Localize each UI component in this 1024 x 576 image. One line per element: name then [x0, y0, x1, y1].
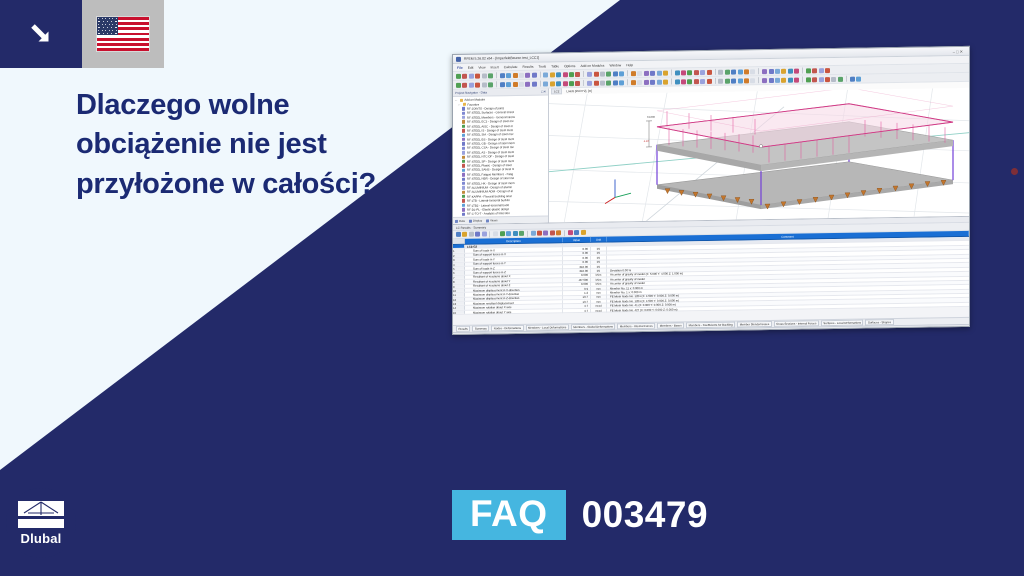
- toolbar-button[interactable]: [482, 73, 487, 78]
- folder-icon: [460, 98, 463, 101]
- toolbar-button[interactable]: [600, 80, 605, 85]
- toolbar-button[interactable]: [532, 72, 537, 77]
- toolbar-separator: [583, 80, 584, 86]
- toolbar-separator: [671, 70, 672, 76]
- module-icon: [462, 164, 465, 167]
- toolbar-button[interactable]: [675, 70, 680, 75]
- toolbar-button[interactable]: [707, 78, 712, 83]
- toolbar-button[interactable]: [750, 69, 755, 74]
- module-icon: [462, 133, 465, 136]
- toolbar-separator: [564, 230, 565, 236]
- cell-value: 4.7: [563, 308, 591, 312]
- toolbar-button[interactable]: [550, 81, 555, 86]
- toolbar-button[interactable]: [681, 70, 686, 75]
- cell-unit: mrad: [591, 308, 607, 312]
- toolbar-button[interactable]: [644, 79, 649, 84]
- view-tabs[interactable]: LC2 Loads [kN/m^2], [m]: [549, 88, 594, 95]
- toolbar-button[interactable]: [556, 72, 561, 77]
- toolbar-button[interactable]: [519, 81, 524, 86]
- row-number: 15: [453, 311, 465, 315]
- toolbar-separator: [846, 76, 847, 82]
- toolbar-button[interactable]: [500, 82, 505, 87]
- faq-strip: FAQ 003479: [452, 490, 708, 540]
- results-toolbar-button[interactable]: [574, 230, 579, 235]
- row-number: 5: [453, 267, 465, 271]
- module-icon: [462, 129, 465, 132]
- toolbar-button[interactable]: [631, 71, 636, 76]
- results-toolbar-button[interactable]: [550, 230, 555, 235]
- toolbar-button[interactable]: [569, 72, 574, 77]
- results-sheet-tab[interactable]: Members - Bases: [657, 322, 684, 328]
- results-toolbar-button[interactable]: [482, 231, 487, 236]
- toolbar-button[interactable]: [825, 77, 830, 82]
- toolbar-button[interactable]: [519, 72, 524, 77]
- toolbar-button[interactable]: [594, 80, 599, 85]
- navigator-title: Project Navigator - Data: [455, 90, 487, 95]
- row-number: 4: [453, 262, 465, 266]
- results-toolbar-button[interactable]: [469, 232, 474, 237]
- rfem-app-icon: [456, 56, 461, 61]
- toolbar-button[interactable]: [543, 72, 548, 77]
- toolbar-button[interactable]: [663, 79, 668, 84]
- results-sheet-tab[interactable]: Surfaces - Local Deformations: [821, 320, 864, 327]
- toolbar-separator: [496, 72, 497, 78]
- navigator-tab-views[interactable]: Views: [486, 218, 497, 222]
- module-icon: [462, 120, 465, 123]
- view-caption: Loads [kN/m^2], [m]: [566, 89, 592, 93]
- faq-number: 003479: [582, 494, 708, 536]
- module-icon: [462, 208, 465, 211]
- toolbar-button[interactable]: [563, 72, 568, 77]
- folder-icon: [463, 103, 466, 106]
- results-sheet-tab[interactable]: Member Slendernesses: [737, 321, 772, 328]
- project-navigator-panel: Project Navigator - Data ◻✕ ─ Add-on Mod…: [453, 88, 549, 224]
- menu-item-6[interactable]: Tools: [538, 64, 546, 68]
- module-icon: [462, 199, 465, 202]
- menu-item-11[interactable]: Help: [626, 63, 633, 67]
- toolbar-button[interactable]: [718, 78, 723, 83]
- toolbar-button[interactable]: [469, 73, 474, 78]
- toolbar-button[interactable]: [619, 71, 624, 76]
- results-title-text: LC Results - Summary: [456, 225, 486, 229]
- toolbar-button[interactable]: [850, 76, 855, 81]
- toolbar-button[interactable]: [462, 82, 467, 87]
- bridge-truss-icon: [18, 501, 64, 528]
- toolbar-button[interactable]: [788, 77, 793, 82]
- toolbar-button[interactable]: [650, 70, 655, 75]
- toolbar-button[interactable]: [587, 80, 592, 85]
- module-icon: [462, 151, 465, 154]
- toolbar-button[interactable]: [806, 68, 811, 73]
- window-buttons[interactable]: – □ ✕: [953, 48, 966, 53]
- module-icon: [462, 125, 465, 128]
- tree-item-container[interactable]: RF-JOINTS - Design of jointsRF-STEEL Sur…: [455, 105, 548, 217]
- menu-item-9[interactable]: Add-on Modules: [580, 63, 604, 67]
- results-toolbar-button[interactable]: [493, 231, 498, 236]
- menu-item-1[interactable]: Edit: [468, 65, 474, 69]
- toolbar-separator: [583, 71, 584, 77]
- toolbar-button[interactable]: [775, 68, 780, 73]
- toolbar-button[interactable]: [788, 68, 793, 73]
- menu-item-5[interactable]: Results: [522, 64, 533, 68]
- toolbar-button[interactable]: [762, 69, 767, 74]
- results-toolbar-button[interactable]: [500, 231, 505, 236]
- toolbar-button[interactable]: [819, 68, 824, 73]
- toolbar-button[interactable]: [550, 72, 555, 77]
- toolbar-button[interactable]: [856, 76, 861, 81]
- toolbar-button[interactable]: [619, 80, 624, 85]
- toolbar-button[interactable]: [750, 78, 755, 83]
- navigator-tab-data[interactable]: Data: [455, 219, 465, 223]
- toolbar-button[interactable]: [744, 69, 749, 74]
- cell-description: Maximum rotation about Y axis: [465, 309, 563, 315]
- toolbar-separator: [802, 67, 803, 73]
- structural-model-graphic: 0.1000 -1.10: [549, 88, 969, 223]
- app-title: RFEM 5.26.02 x64 - [ImperfektBeuren test…: [464, 56, 539, 61]
- toolbar-button[interactable]: [556, 81, 561, 86]
- module-icon: [462, 204, 465, 207]
- menu-item-2[interactable]: View: [478, 65, 485, 69]
- results-toolbar-button[interactable]: [543, 230, 548, 235]
- toolbar-button[interactable]: [681, 79, 686, 84]
- toolbar-button[interactable]: [769, 77, 774, 82]
- toolbar-separator: [496, 81, 497, 87]
- toolbar-button[interactable]: [525, 81, 530, 86]
- toolbar-separator: [540, 72, 541, 78]
- toolbar-button[interactable]: [718, 69, 723, 74]
- toolbar-button[interactable]: [775, 77, 780, 82]
- toolbar-button[interactable]: [525, 72, 530, 77]
- toolbar-button[interactable]: [587, 71, 592, 76]
- results-sheet-tab[interactable]: Members - Coefficients for Buckling: [686, 322, 735, 329]
- column-header-value[interactable]: Value: [563, 237, 591, 242]
- row-number: 7: [453, 276, 465, 280]
- toolbar-button[interactable]: [606, 80, 611, 85]
- toolbar-separator: [758, 77, 759, 83]
- page-title: Dlaczego wolne obciążenie nie jest przył…: [76, 86, 416, 204]
- toolbar-button[interactable]: [794, 68, 799, 73]
- toolbar-button[interactable]: [781, 77, 786, 82]
- toolbar-button[interactable]: [794, 77, 799, 82]
- menu-item-3[interactable]: Insert: [490, 65, 498, 69]
- toolbar-button[interactable]: [575, 80, 580, 85]
- module-icon: [462, 107, 465, 110]
- toolbar-button[interactable]: [482, 82, 487, 87]
- load-value-label: 0.1000: [647, 115, 655, 119]
- results-grid-body[interactable]: 1Sum of loads in X0.00kN2Sum of support …: [453, 241, 969, 315]
- toolbar-button[interactable]: [731, 69, 736, 74]
- results-toolbar-button[interactable]: [537, 231, 542, 236]
- results-toolbar-button[interactable]: [506, 231, 511, 236]
- toolbar-button[interactable]: [700, 70, 705, 75]
- results-toolbar-button[interactable]: [475, 232, 480, 237]
- toolbar-separator: [671, 79, 672, 85]
- us-flag-icon: [97, 17, 149, 51]
- toolbar-button[interactable]: [694, 79, 699, 84]
- toolbar-button[interactable]: [707, 69, 712, 74]
- row-number: 13: [453, 302, 465, 306]
- menu-item-8[interactable]: Options: [564, 64, 575, 68]
- application-window-screenshot: RFEM 5.26.02 x64 - [ImperfektBeuren test…: [452, 46, 970, 335]
- toolbar-button[interactable]: [687, 79, 692, 84]
- toolbar-button[interactable]: [644, 70, 649, 75]
- toolbar-button[interactable]: [725, 78, 730, 83]
- toolbar-separator: [715, 78, 716, 84]
- results-sheet-tab[interactable]: Cross-Sections - Internal Forces: [774, 320, 819, 327]
- toolbar-button[interactable]: [613, 71, 618, 76]
- toolbar-button[interactable]: [606, 71, 611, 76]
- results-sheet-tab[interactable]: Members - Internal Forces: [617, 323, 655, 330]
- toolbar-separator: [715, 69, 716, 75]
- toolbar-button[interactable]: [575, 71, 580, 76]
- toolbar-button[interactable]: [825, 68, 830, 73]
- row-number: 9: [453, 284, 465, 288]
- toolbar-button[interactable]: [657, 70, 662, 75]
- arrow-down-right-icon: [26, 19, 56, 49]
- column-header-unit[interactable]: Unit: [591, 237, 607, 242]
- toolbar-separator: [627, 79, 628, 85]
- row-number: 12: [453, 297, 465, 301]
- toolbar-button[interactable]: [488, 82, 493, 87]
- toolbar-button[interactable]: [762, 78, 767, 83]
- toolbar-button[interactable]: [506, 82, 511, 87]
- row-number: 2: [453, 254, 465, 258]
- row-number-header: [453, 239, 465, 244]
- toolbar-button[interactable]: [631, 80, 636, 85]
- results-sheet-tab[interactable]: Surfaces - Shapes: [865, 319, 893, 325]
- toolbar-button[interactable]: [543, 81, 548, 86]
- toolbar-button[interactable]: [687, 70, 692, 75]
- toolbar-button[interactable]: [469, 82, 474, 87]
- toolbar-button[interactable]: [781, 68, 786, 73]
- toolbar-button[interactable]: [569, 81, 574, 86]
- toolbar-button[interactable]: [812, 77, 817, 82]
- toolbar-button[interactable]: [650, 79, 655, 84]
- addon-modules-tree[interactable]: ─ Add-on Modules ─ Favorites RF-JOINTS -…: [453, 95, 548, 216]
- toolbar-button[interactable]: [738, 78, 743, 83]
- toolbar-button[interactable]: [700, 79, 705, 84]
- results-sheet-tab[interactable]: Summary: [472, 325, 489, 331]
- row-number: 6: [453, 271, 465, 275]
- toolbar-button[interactable]: [657, 79, 662, 84]
- load-value-label-2: -1.10: [643, 139, 649, 143]
- row-number: 14: [453, 306, 465, 310]
- toolbar-separator: [758, 68, 759, 74]
- row-number: [453, 245, 465, 249]
- toolbar-separator: [527, 230, 528, 236]
- logo-wordmark: Dlubal: [21, 531, 62, 546]
- toolbar-button[interactable]: [812, 68, 817, 73]
- toolbar-button[interactable]: [600, 71, 605, 76]
- arrow-down-right-badge: [0, 0, 82, 68]
- results-sheet-tab[interactable]: Members - Global Deformations: [571, 323, 616, 330]
- toolbar-separator: [540, 81, 541, 87]
- module-icon: [462, 177, 465, 180]
- results-toolbar-button[interactable]: [531, 231, 536, 236]
- faq-badge: FAQ: [452, 490, 566, 540]
- toolbar-separator: [489, 231, 490, 237]
- toolbar-button[interactable]: [513, 81, 518, 86]
- toolbar-button[interactable]: [738, 69, 743, 74]
- results-toolbar-button[interactable]: [456, 232, 461, 237]
- model-3d-canvas[interactable]: 0.1000 -1.10: [549, 88, 969, 223]
- toolbar-button[interactable]: [594, 71, 599, 76]
- menu-item-7[interactable]: Table: [551, 64, 559, 68]
- row-number: 3: [453, 258, 465, 262]
- navigator-pin-icon[interactable]: ◻✕: [541, 90, 546, 94]
- row-number: 11: [453, 293, 465, 297]
- toolbar-button[interactable]: [744, 78, 749, 83]
- toolbar-button[interactable]: [488, 73, 493, 78]
- toolbar-button[interactable]: [613, 80, 618, 85]
- toolbar-button[interactable]: [838, 76, 843, 81]
- toolbar-separator: [627, 70, 628, 76]
- toolbar-separator: [802, 76, 803, 82]
- dlubal-logo[interactable]: Dlubal: [6, 488, 76, 558]
- toolbar-button[interactable]: [532, 81, 537, 86]
- toolbar-button[interactable]: [831, 76, 836, 81]
- module-icon: [462, 186, 465, 189]
- row-number: 1: [453, 249, 465, 253]
- toolbar-button[interactable]: [500, 73, 505, 78]
- app-body: Project Navigator - Data ◻✕ ─ Add-on Mod…: [453, 82, 969, 224]
- results-toolbar-button[interactable]: [462, 232, 467, 237]
- module-icon: [462, 155, 465, 158]
- toolbar-button[interactable]: [456, 73, 461, 78]
- results-toolbar-button[interactable]: [513, 231, 518, 236]
- module-icon: [462, 212, 465, 215]
- row-number: 8: [453, 280, 465, 284]
- module-icon: [462, 169, 465, 172]
- toolbar-button[interactable]: [731, 78, 736, 83]
- results-sheet-tab[interactable]: Nodes - Deformations: [491, 325, 523, 332]
- module-icon: [462, 142, 465, 145]
- topbar: [0, 0, 164, 68]
- toolbar-button[interactable]: [475, 73, 480, 78]
- toolbar-button[interactable]: [475, 82, 480, 87]
- results-sheet-tab[interactable]: Members - Local Deformations: [526, 324, 569, 331]
- toolbar-button[interactable]: [563, 81, 568, 86]
- toolbar-button[interactable]: [769, 68, 774, 73]
- toolbar-button[interactable]: [663, 70, 668, 75]
- module-icon: [462, 190, 465, 193]
- row-number: 10: [453, 289, 465, 293]
- toolbar-button[interactable]: [637, 71, 642, 76]
- toolbar-button[interactable]: [506, 73, 511, 78]
- results-pane: LC Results - Summary Description Value U…: [453, 216, 969, 332]
- language-flag-badge[interactable]: [82, 0, 164, 68]
- module-icon: [462, 111, 465, 114]
- results-sheet-tab[interactable]: Results: [456, 326, 470, 332]
- menu-item-4[interactable]: Calculate: [504, 64, 518, 68]
- toolbar-button[interactable]: [637, 80, 642, 85]
- toolbar-button[interactable]: [694, 70, 699, 75]
- results-toolbar-button[interactable]: [519, 231, 524, 236]
- module-icon: [462, 147, 465, 150]
- menu-item-10[interactable]: Window: [609, 63, 621, 67]
- model-view-panel[interactable]: LC2 Loads [kN/m^2], [m]: [549, 82, 969, 223]
- toolbar-button[interactable]: [456, 82, 461, 87]
- menu-item-0[interactable]: File: [457, 65, 463, 69]
- results-toolbar-button[interactable]: [568, 230, 573, 235]
- toolbar-button[interactable]: [725, 69, 730, 74]
- results-toolbar-button[interactable]: [581, 230, 586, 235]
- results-toolbar-button[interactable]: [556, 230, 561, 235]
- toolbar-button[interactable]: [462, 73, 467, 78]
- toolbar-button[interactable]: [806, 77, 811, 82]
- recording-indicator-icon: [1011, 168, 1018, 175]
- expander-icon[interactable]: ─: [458, 102, 461, 106]
- toolbar-button[interactable]: [819, 77, 824, 82]
- toolbar-button[interactable]: [675, 79, 680, 84]
- toolbar-button[interactable]: [513, 72, 518, 77]
- view-tab-lc2[interactable]: LC2: [551, 88, 562, 94]
- navigator-tab-display[interactable]: Display: [469, 219, 482, 223]
